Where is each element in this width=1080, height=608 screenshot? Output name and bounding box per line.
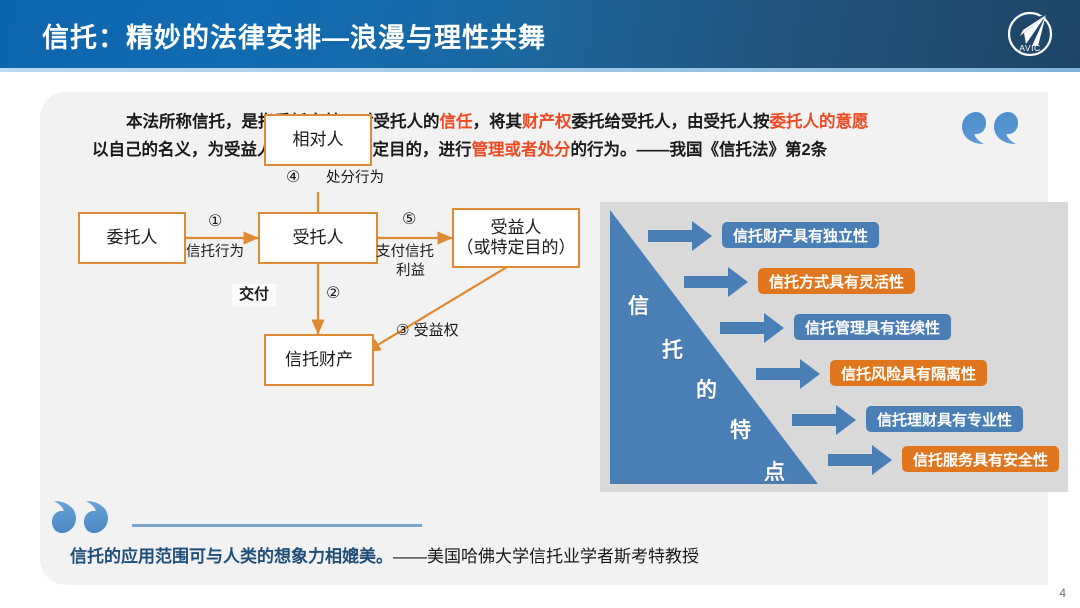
quote-highlight-manage-dispose: 管理或者处分 <box>472 141 571 159</box>
header-underline <box>0 68 1080 72</box>
page-title: 信托：精妙的法律安排—浪漫与理性共舞 <box>42 16 546 55</box>
page-number: 4 <box>1059 586 1066 600</box>
flow-box-beneficiary[interactable]: 受益人 （或特定目的） <box>452 208 580 268</box>
flow-label-num-1: ① <box>208 212 222 231</box>
trust-flow-diagram: 相对人 委托人 受托人 受益人 （或特定目的） 信托财产 ① 信托行为 ④ 处分… <box>40 192 560 492</box>
content-card: 本法所称信托，是指委托人基于对受托人的信任，将其财产权委托给受托人，由受托人按委… <box>40 92 1048 585</box>
bottom-quote-attribution: ——美国哈佛大学信托业学者斯考特教授 <box>393 547 699 566</box>
trust-features-panel: 信 托 的 特 点 信托财产具有独立性 信托方式具有灵活性 信托管理具有连续性 … <box>600 202 1068 492</box>
flow-label-edge-3: ③ 受益权 <box>396 322 459 340</box>
flow-label-edge-4: 处分行为 <box>326 170 384 187</box>
triangle-char-1: 信 <box>628 290 649 320</box>
flow-label-num-5: ⑤ <box>402 210 416 229</box>
slide-header: 信托：精妙的法律安排—浪漫与理性共舞 AVIC <box>0 0 1080 68</box>
bottom-quote-main: 信托的应用范围可与人类的想象力相媲美。 <box>70 547 393 566</box>
bottom-quote-text: 信托的应用范围可与人类的想象力相媲美。——美国哈佛大学信托业学者斯考特教授 <box>70 544 699 570</box>
trust-triangle-shape <box>610 210 818 484</box>
feature-item-5[interactable]: 信托理财具有专业性 <box>866 406 1023 432</box>
flow-label-delivery: 交付 <box>232 284 276 306</box>
flow-box-trust-property-label: 信托财产 <box>285 350 353 370</box>
flow-box-beneficiary-label-2: （或特定目的） <box>457 238 576 258</box>
slide-root: 信托：精妙的法律安排—浪漫与理性共舞 AVIC 本法所称信托，是指委托人基于对受… <box>0 0 1080 608</box>
triangle-char-2: 托 <box>662 334 683 364</box>
flow-label-edge-1: 信托行为 <box>186 244 244 261</box>
flow-box-settlor[interactable]: 委托人 <box>78 212 186 264</box>
svg-text:AVIC: AVIC <box>1019 43 1041 53</box>
closing-quote-marks-icon <box>960 108 1024 148</box>
feature-item-5-label: 信托理财具有专业性 <box>877 409 1012 430</box>
feature-item-3-label: 信托管理具有连续性 <box>805 317 940 338</box>
flow-label-num-2: ② <box>326 284 340 303</box>
feature-item-2-label: 信托方式具有灵活性 <box>769 271 904 292</box>
feature-item-3[interactable]: 信托管理具有连续性 <box>794 314 951 340</box>
flow-box-counterparty-label: 相对人 <box>293 130 344 150</box>
flow-label-num-4: ④ <box>286 168 300 187</box>
triangle-char-4: 特 <box>730 414 751 444</box>
feature-item-4-label: 信托风险具有隔离性 <box>841 363 976 384</box>
flow-box-trustee[interactable]: 受托人 <box>258 212 378 264</box>
quote-seg-2: ，将其 <box>473 113 523 131</box>
legal-quote-text: 本法所称信托，是指委托人基于对受托人的信任，将其财产权委托给受托人，由受托人按委… <box>92 108 972 165</box>
flow-box-trustee-label: 受托人 <box>293 228 344 248</box>
quote-highlight-trust: 信任 <box>440 113 473 131</box>
quote-seg-5: 的行为。——我国《信托法》第2条 <box>571 141 828 159</box>
flow-box-settlor-label: 委托人 <box>107 228 158 248</box>
feature-item-1[interactable]: 信托财产具有独立性 <box>722 222 879 248</box>
feature-item-2[interactable]: 信托方式具有灵活性 <box>758 268 915 294</box>
quote-seg-3: 委托给受托人，由受托人按 <box>572 113 770 131</box>
flow-label-edge-5-line2: 利益 <box>396 263 425 280</box>
avic-logo-icon: AVIC <box>1002 6 1058 62</box>
flow-box-beneficiary-label-1: 受益人 <box>491 218 542 238</box>
flow-box-trust-property[interactable]: 信托财产 <box>264 334 374 386</box>
feature-item-4[interactable]: 信托风险具有隔离性 <box>830 360 987 386</box>
quote-highlight-property-right: 财产权 <box>522 113 572 131</box>
flow-label-edge-5-line1: 支付信托 <box>376 244 434 261</box>
bottom-quote-rule <box>132 524 422 527</box>
feature-item-6[interactable]: 信托服务具有安全性 <box>902 446 1059 472</box>
opening-quote-marks-icon <box>50 496 114 538</box>
triangle-char-5: 点 <box>764 456 785 486</box>
feature-item-1-label: 信托财产具有独立性 <box>733 225 868 246</box>
flow-box-counterparty[interactable]: 相对人 <box>264 114 372 166</box>
feature-item-6-label: 信托服务具有安全性 <box>913 449 1048 470</box>
quote-highlight-settlor-will: 委托人的意愿 <box>770 113 869 131</box>
triangle-char-3: 的 <box>696 374 717 404</box>
